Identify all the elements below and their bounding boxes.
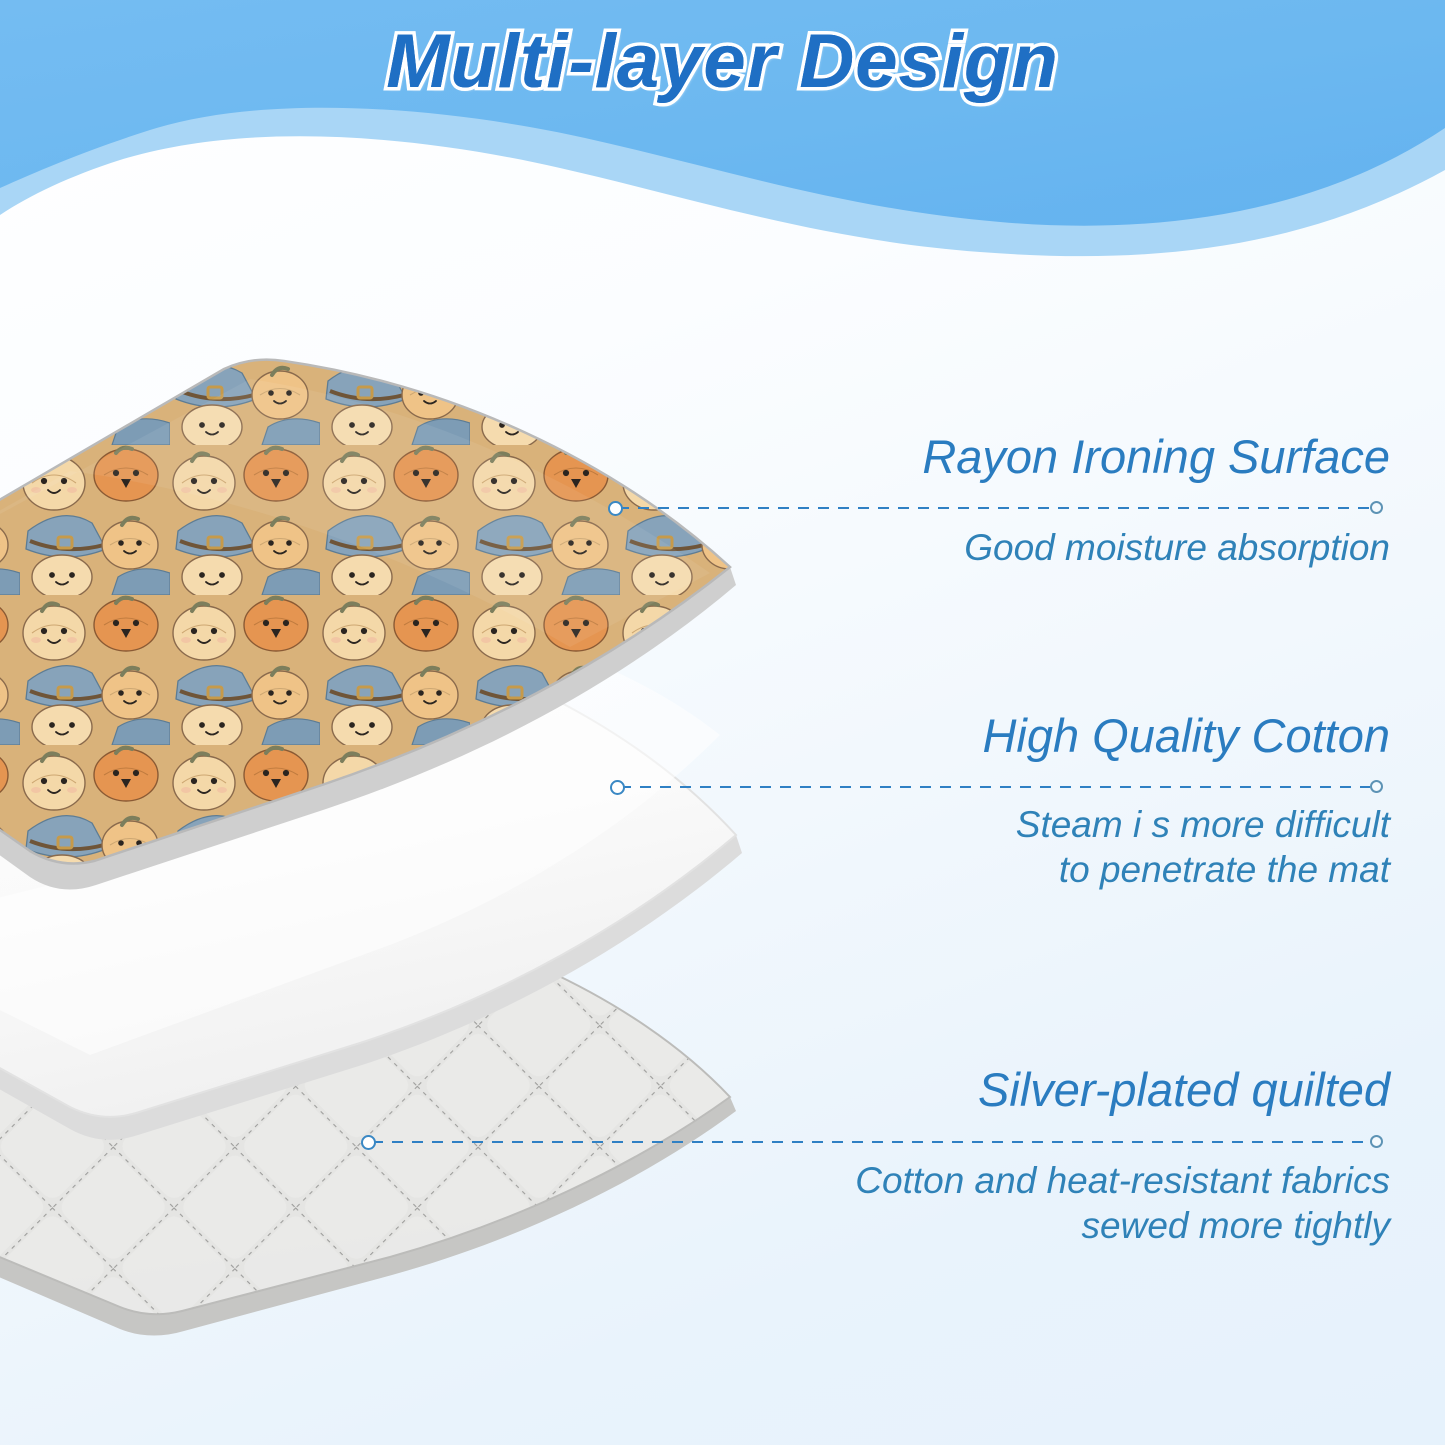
callout-silver-plated-quilted: Silver-plated quilted Cotton and heat-re… xyxy=(500,1065,1390,1248)
callout-subtitle-1: Good moisture absorption xyxy=(560,525,1390,570)
page-title-outline: Multi-layer Design xyxy=(0,18,1445,105)
multi-layer-design-infographic: Multi-layer Design Multi-layer Design xyxy=(0,0,1445,1445)
callout-subtitle-2: Steam i s more difficult to penetrate th… xyxy=(560,802,1390,892)
callout-subtitle-2-line-2: to penetrate the mat xyxy=(560,847,1390,892)
callout-subtitle-2-line-1: Steam i s more difficult xyxy=(560,802,1390,847)
callout-end-dot-2 xyxy=(1370,780,1383,793)
callout-anchor-dot-1 xyxy=(608,501,623,516)
callout-title-2: High Quality Cotton xyxy=(560,711,1390,762)
callout-subtitle-3-line-1: Cotton and heat-resistant fabrics xyxy=(500,1158,1390,1203)
callout-title-1: Rayon Ironing Surface xyxy=(560,432,1390,483)
callout-rayon-ironing-surface: Rayon Ironing Surface Good moisture abso… xyxy=(560,432,1390,570)
callout-end-dot-3 xyxy=(1370,1135,1383,1148)
callout-subtitle-3: Cotton and heat-resistant fabrics sewed … xyxy=(500,1158,1390,1248)
header-band: Multi-layer Design Multi-layer Design xyxy=(0,0,1445,270)
callout-subtitle-3-line-2: sewed more tightly xyxy=(500,1203,1390,1248)
callout-subtitle-1-line-1: Good moisture absorption xyxy=(560,525,1390,570)
callout-anchor-dot-2 xyxy=(610,780,625,795)
callout-anchor-dot-3 xyxy=(361,1135,376,1150)
callout-high-quality-cotton: High Quality Cotton Steam i s more diffi… xyxy=(560,711,1390,892)
callout-title-3: Silver-plated quilted xyxy=(500,1065,1390,1116)
callout-end-dot-1 xyxy=(1370,501,1383,514)
